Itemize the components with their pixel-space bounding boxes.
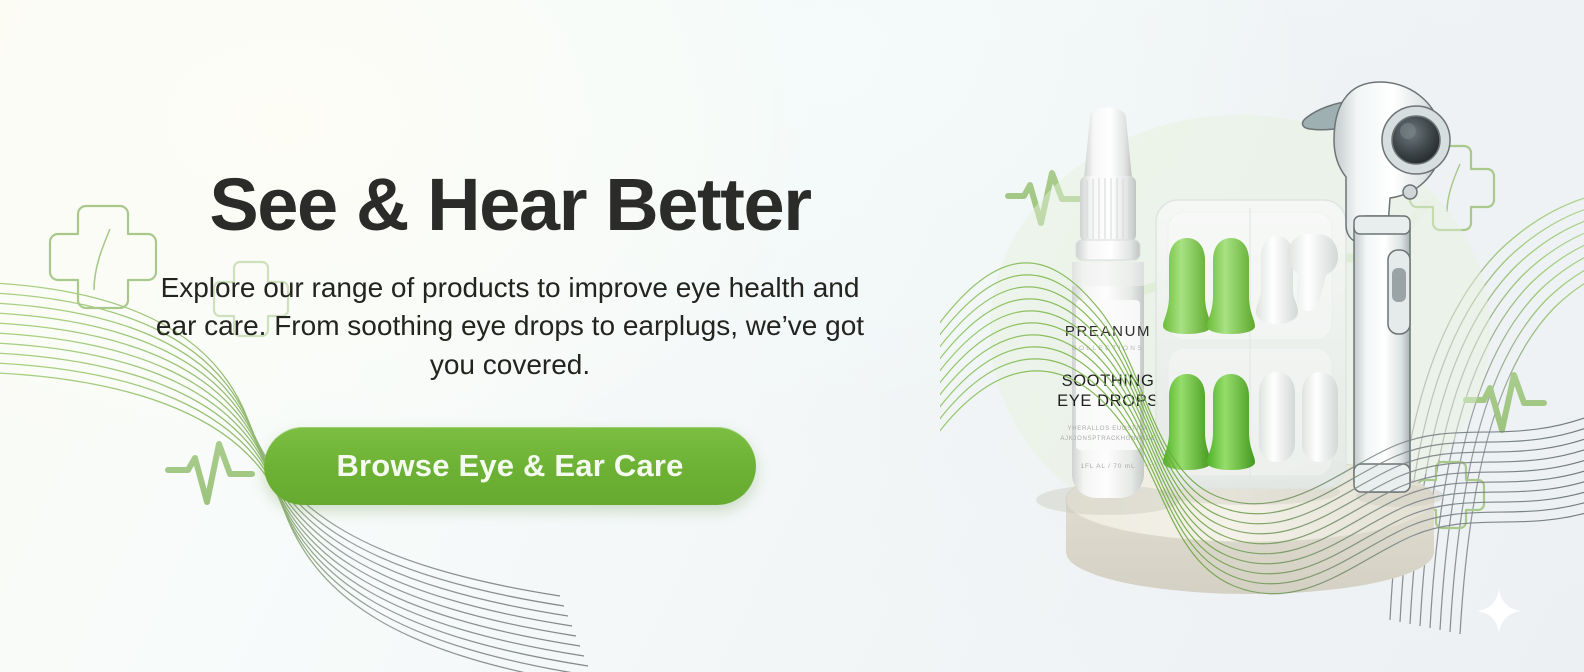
bottle-volume: 1FL AL / 70 mL bbox=[1081, 463, 1136, 470]
hero-content: See & Hear Better Explore our range of p… bbox=[0, 0, 960, 672]
sparkle-star bbox=[1476, 588, 1522, 634]
earplug-white bbox=[1259, 372, 1295, 462]
hero-subcopy: Explore our range of products to improve… bbox=[150, 269, 870, 385]
browse-eye-ear-care-button[interactable]: Browse Eye & Ear Care bbox=[264, 427, 756, 505]
earplug-green bbox=[1207, 238, 1255, 334]
earplug-blister-pack bbox=[1156, 200, 1346, 505]
page-title: See & Hear Better bbox=[209, 167, 810, 242]
earplug-green bbox=[1163, 374, 1211, 470]
product-stage: PREANUM COLLECTIONS SOOTHING EYE DROPS Y… bbox=[940, 0, 1584, 672]
earplug-green bbox=[1163, 238, 1211, 334]
hero-banner: PREANUM COLLECTIONS SOOTHING EYE DROPS Y… bbox=[0, 0, 1584, 672]
earplug-white bbox=[1302, 372, 1338, 462]
earplug-green bbox=[1207, 374, 1255, 470]
